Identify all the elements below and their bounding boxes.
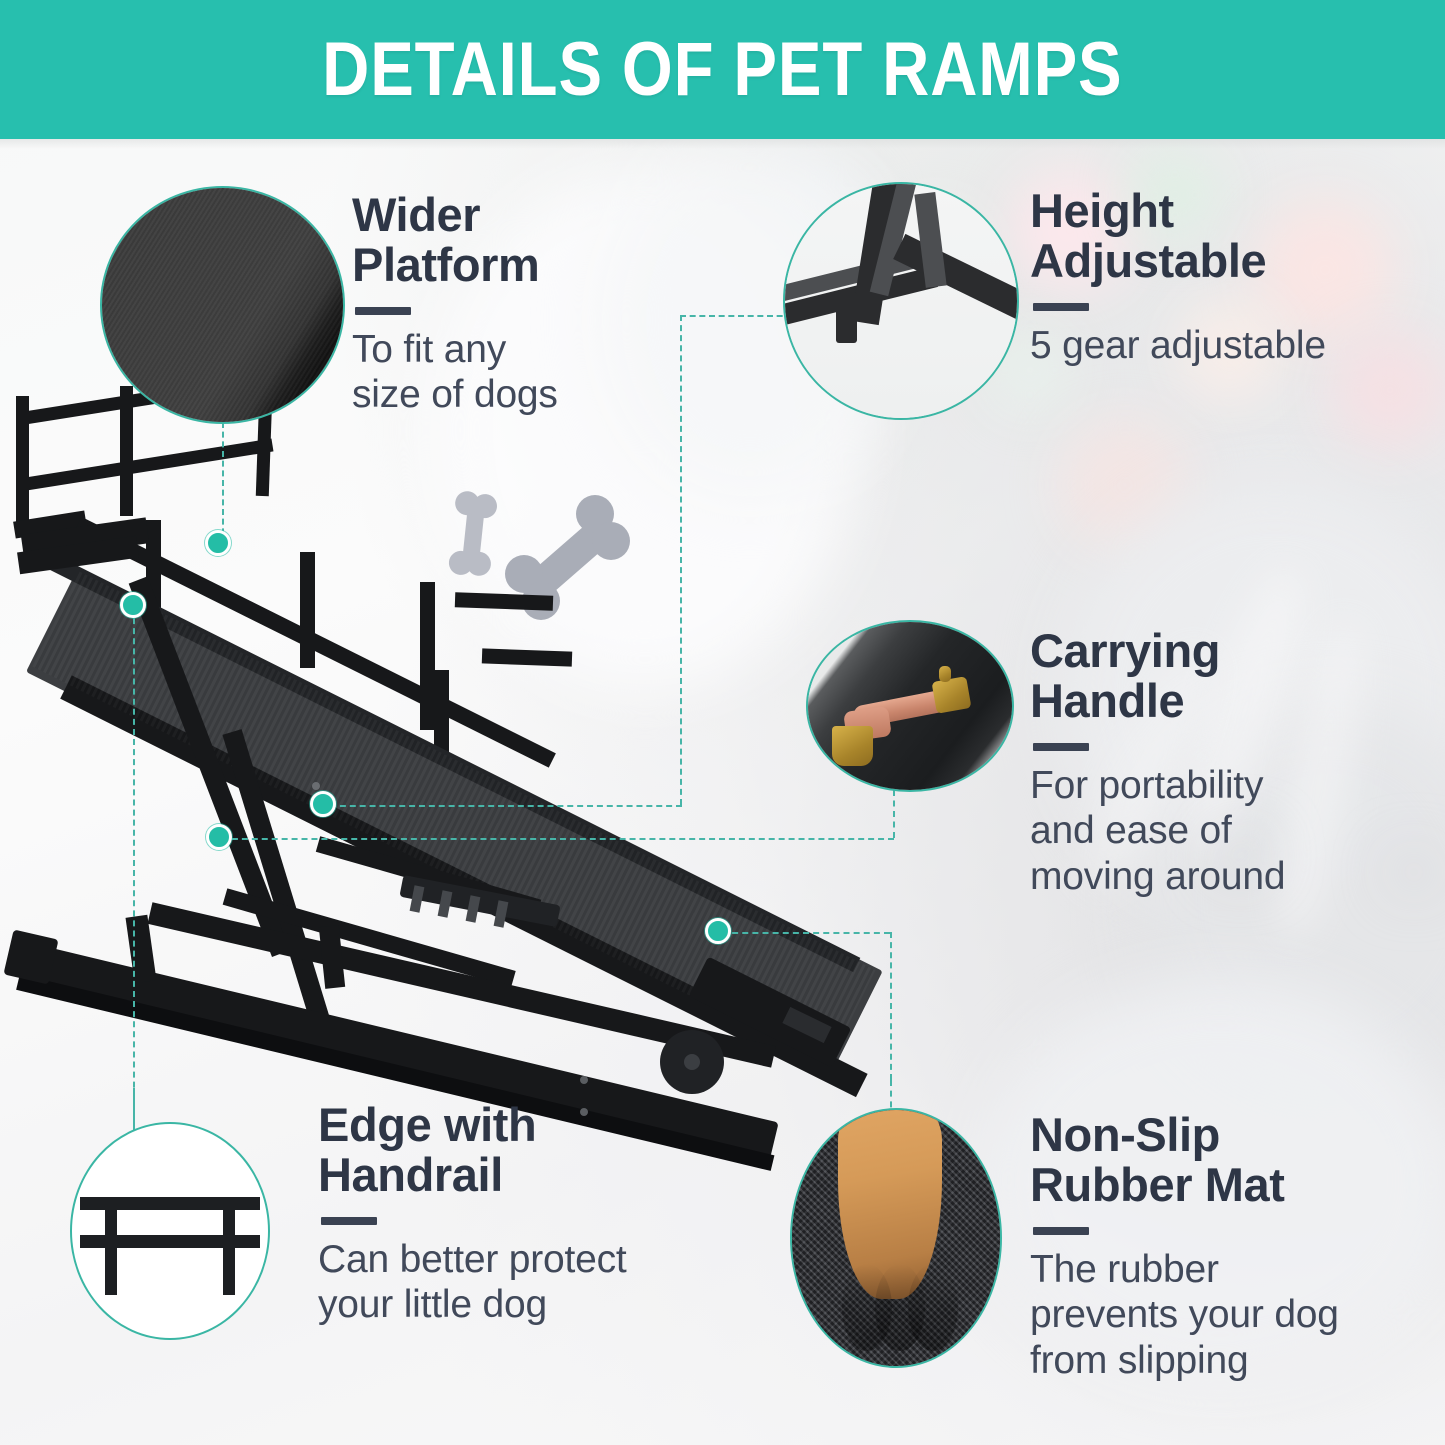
- title-divider: [355, 307, 411, 315]
- callout-title: Non-Slip Rubber Mat: [1030, 1110, 1430, 1211]
- callout-body: 5 gear adjustable: [1030, 323, 1430, 369]
- connector-carrying-handle: [893, 790, 895, 838]
- carrying-handle-closeup-photo: [806, 620, 1014, 792]
- header-shadow: [0, 139, 1445, 149]
- connector-left-guide: [133, 608, 135, 1128]
- callout-carrying-handle: Carrying Handle For portability and ease…: [1030, 626, 1390, 899]
- paw-on-rubber-mat-photo: [790, 1108, 1002, 1368]
- background-dog-eye: [1392, 856, 1436, 888]
- callout-body: The rubber prevents your dog from slippi…: [1030, 1247, 1430, 1384]
- callout-title: Wider Platform: [352, 190, 652, 291]
- callout-body: For portability and ease of moving aroun…: [1030, 763, 1390, 900]
- callout-title: Carrying Handle: [1030, 626, 1390, 727]
- connector-carrying-handle: [222, 838, 894, 840]
- anchor-dot-non-slip-mat: [705, 918, 731, 944]
- connector-wider-platform: [222, 422, 224, 544]
- anchor-dot-height-adjustable: [310, 791, 336, 817]
- title-divider: [1033, 1227, 1089, 1235]
- connector-height-adjustable: [680, 315, 682, 805]
- height-adjust-closeup-photo: [783, 182, 1019, 420]
- title-divider: [1033, 743, 1089, 751]
- platform-closeup-photo: [100, 186, 345, 424]
- callout-non-slip-rubber-mat: Non-Slip Rubber Mat The rubber prevents …: [1030, 1110, 1430, 1383]
- callout-title: Height Adjustable: [1030, 186, 1430, 287]
- connector-edge-handrail: [133, 1088, 135, 1132]
- connector-non-slip-mat: [722, 932, 890, 934]
- pet-ramp-product-image: [0, 330, 940, 1150]
- callout-edge-with-handrail: Edge with Handrail Can better protect yo…: [318, 1100, 718, 1328]
- header-banner: DETAILS OF PET RAMPS: [0, 0, 1445, 139]
- callout-wider-platform: Wider Platform To fit any size of dogs: [352, 190, 652, 418]
- title-divider: [321, 1217, 377, 1225]
- callout-height-adjustable: Height Adjustable 5 gear adjustable: [1030, 186, 1430, 368]
- page-title: DETAILS OF PET RAMPS: [322, 26, 1122, 113]
- title-divider: [1033, 303, 1089, 311]
- anchor-dot-carrying-handle: [206, 824, 232, 850]
- callout-title: Edge with Handrail: [318, 1100, 718, 1201]
- callout-body: To fit any size of dogs: [352, 327, 652, 418]
- connector-non-slip-mat: [890, 932, 892, 1080]
- callout-body: Can better protect your little dog: [318, 1237, 718, 1328]
- anchor-dot-wider-platform: [205, 530, 231, 556]
- connector-height-adjustable: [330, 805, 682, 807]
- anchor-dot-handrail: [120, 592, 146, 618]
- handrail-diagram: [70, 1122, 270, 1340]
- infographic-canvas: DETAILS OF PET RAMPS: [0, 0, 1445, 1445]
